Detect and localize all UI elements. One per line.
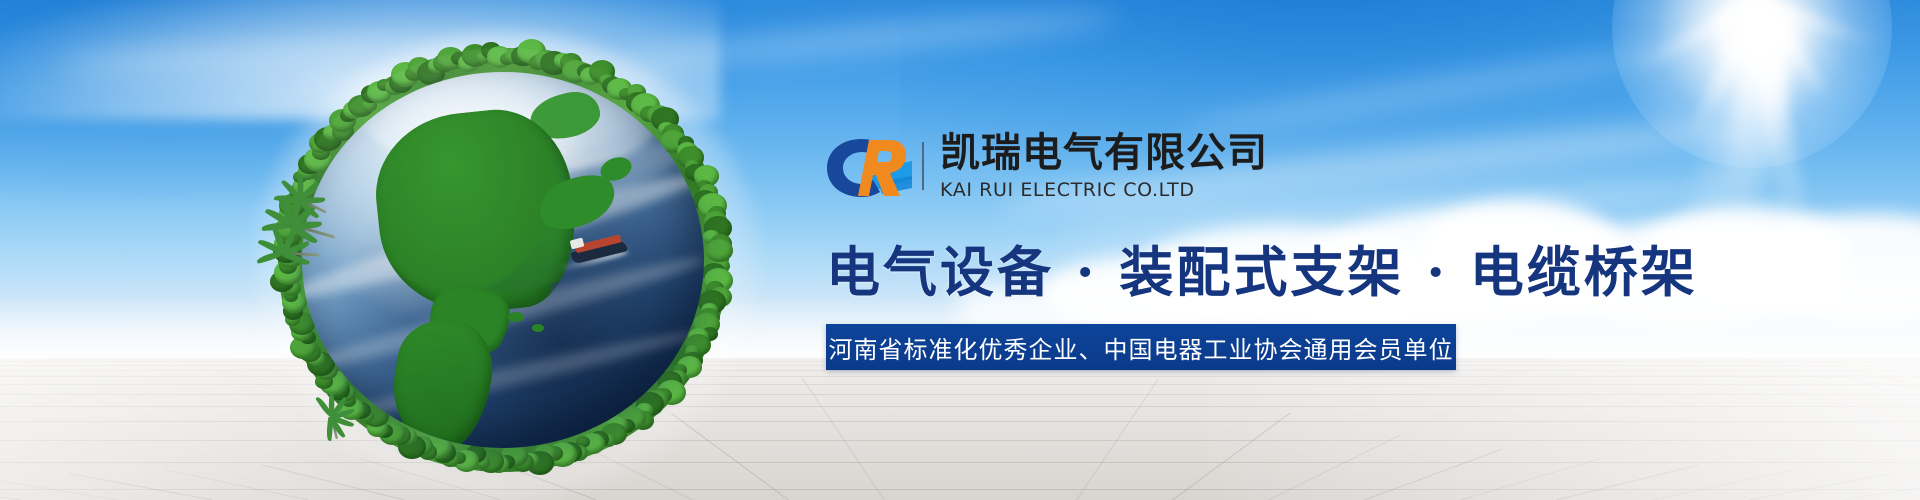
brand-text: 凯瑞电气有限公司 KAI RUI ELECTRIC CO.LTD — [940, 132, 1268, 201]
banner-slogan: 电气设备 · 装配式支架 · 电缆桥架 — [826, 228, 1698, 307]
kairui-cr-monogram-icon — [824, 130, 916, 202]
brand-lockup: 凯瑞电气有限公司 KAI RUI ELECTRIC CO.LTD — [824, 128, 1268, 204]
company-name-cn: 凯瑞电气有限公司 — [940, 132, 1268, 174]
company-name-en: KAI RUI ELECTRIC CO.LTD — [940, 179, 1268, 201]
credentials-ribbon: 河南省标准化优秀企业、中国电器工业协会通用会员单位 — [826, 324, 1456, 370]
brand-divider — [922, 142, 924, 190]
credentials-ribbon-text: 河南省标准化优秀企业、中国电器工业协会通用会员单位 — [829, 330, 1454, 365]
banner-content: 凯瑞电气有限公司 KAI RUI ELECTRIC CO.LTD 电气设备 · … — [0, 0, 1920, 500]
hero-banner: 凯瑞电气有限公司 KAI RUI ELECTRIC CO.LTD 电气设备 · … — [0, 0, 1920, 500]
